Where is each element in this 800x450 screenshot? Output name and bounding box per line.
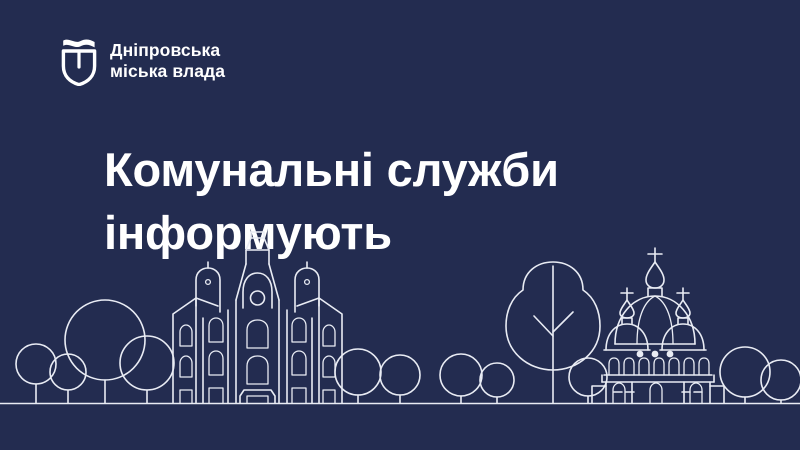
brand-lockup: Дніпровська міська влада (60, 36, 225, 86)
dnipro-cityscape-line-art (0, 220, 800, 450)
brand-name: Дніпровська міська влада (110, 40, 225, 83)
tree-round-right-2 (480, 363, 514, 403)
tree-round-right (440, 354, 482, 403)
tree-tall-branching (506, 262, 600, 403)
brand-name-line-1: Дніпровська (110, 40, 225, 61)
historic-building-city-hall (173, 232, 342, 403)
tree-medium-left (120, 336, 174, 403)
page-title-line-1: Комунальні служби (104, 139, 664, 202)
communal-services-banner: Дніпровська міська влада Комунальні служ… (0, 0, 800, 450)
brand-name-line-2: міська влада (110, 61, 225, 82)
tree-double-right (720, 347, 800, 403)
orthodox-cathedral (592, 248, 724, 403)
tree-round-center-2 (380, 355, 420, 403)
dnipro-shield-logo-icon (60, 36, 98, 86)
